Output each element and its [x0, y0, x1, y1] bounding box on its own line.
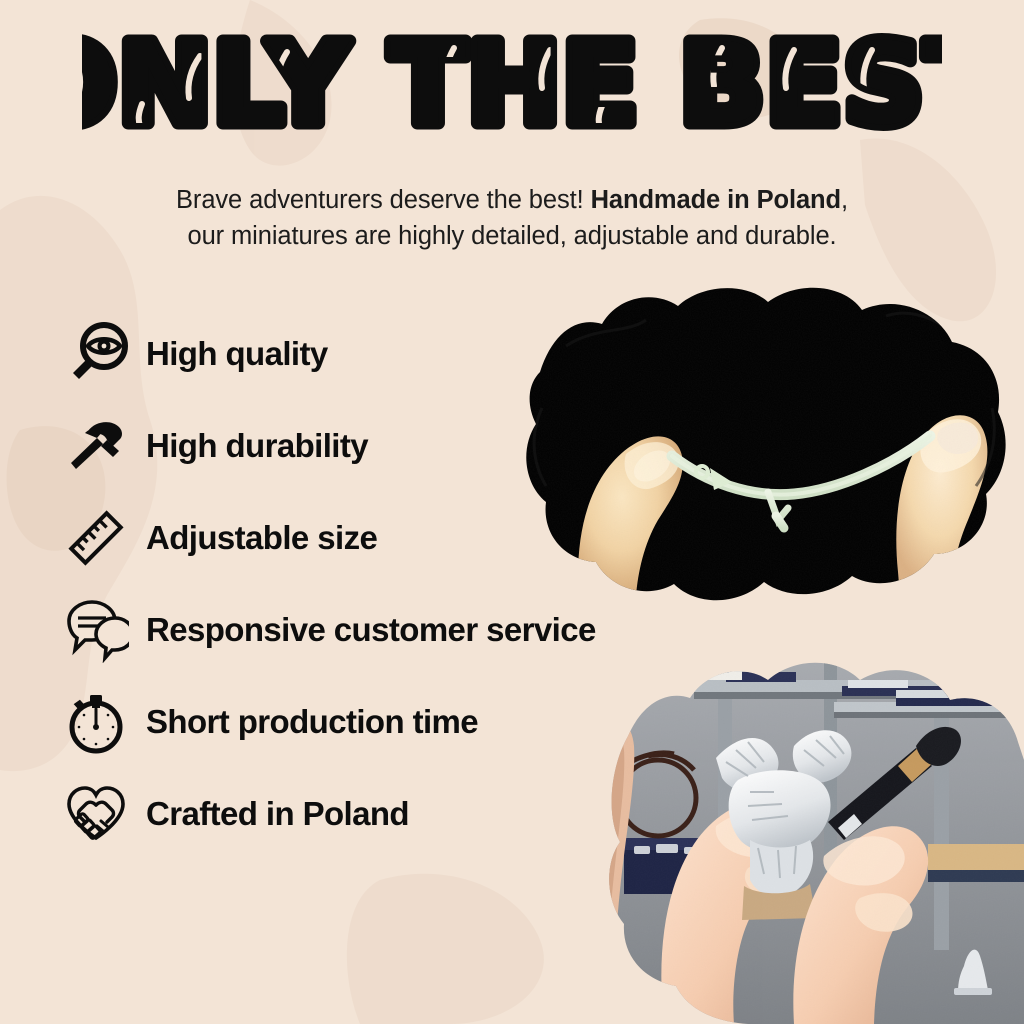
- subtitle-line-1-plain: Brave adventurers deserve the best!: [176, 186, 591, 214]
- feature-label: High durability: [146, 427, 368, 465]
- stopwatch-icon: [60, 686, 132, 758]
- feature-label: Short production time: [146, 703, 478, 741]
- feature-label: Crafted in Poland: [146, 795, 409, 833]
- page-title: ONLY THE BEST ONLY THE BEST: [0, 26, 1024, 146]
- subtitle-line-2: our miniatures are highly detailed, adju…: [0, 218, 1024, 254]
- heart-handshake-icon: [60, 778, 132, 850]
- feature-row-high-durability: High durability: [60, 400, 760, 492]
- ruler-icon: [60, 502, 132, 574]
- feature-label: Responsive customer service: [146, 611, 596, 649]
- hammer-icon: [60, 410, 132, 482]
- feature-row-crafted-in-poland: Crafted in Poland: [60, 768, 760, 860]
- speech-bubbles-icon: [60, 594, 132, 666]
- title-artwork: ONLY THE BEST ONLY THE BEST: [82, 26, 942, 146]
- subtitle-line-1: Brave adventurers deserve the best! Hand…: [0, 182, 1024, 218]
- subtitle-highlight: Handmade in Poland: [591, 186, 841, 214]
- magnifier-eye-icon: [60, 318, 132, 390]
- feature-row-production-time: Short production time: [60, 676, 760, 768]
- feature-row-high-quality: High quality: [60, 308, 760, 400]
- feature-label: High quality: [146, 335, 328, 373]
- feature-row-customer-service: Responsive customer service: [60, 584, 760, 676]
- feature-label: Adjustable size: [146, 519, 377, 557]
- subtitle-line-1-tail: ,: [841, 186, 848, 214]
- subtitle: Brave adventurers deserve the best! Hand…: [0, 182, 1024, 254]
- feature-row-adjustable-size: Adjustable size: [60, 492, 760, 584]
- title-text: ONLY THE BEST: [82, 26, 942, 146]
- feature-list: High quality High durability: [60, 308, 760, 860]
